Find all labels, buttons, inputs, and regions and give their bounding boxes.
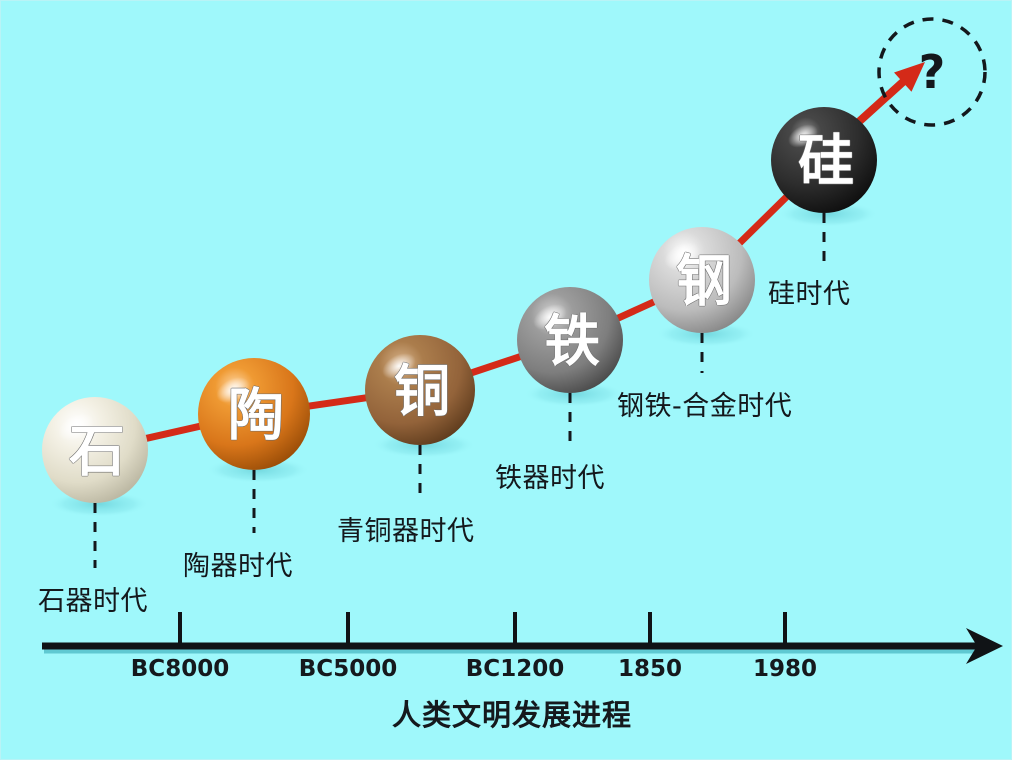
tick-label-1850: 1850: [618, 656, 682, 682]
question-mark-icon: ?: [919, 45, 946, 99]
tick-label-bc1200: BC1200: [466, 656, 564, 682]
text-label-layer: 石器时代 陶器时代 青铜器时代 铁器时代 钢铁-合金时代 硅时代 ? BC800…: [0, 0, 1012, 760]
tick-label-1980: 1980: [753, 656, 817, 682]
era-label-bronze-age: 青铜器时代: [337, 518, 475, 545]
era-label-iron-age: 铁器时代: [495, 465, 605, 492]
era-label-steel-alloy-age: 钢铁-合金时代: [617, 393, 792, 420]
era-label-silicon-age: 硅时代: [768, 281, 851, 308]
tick-label-bc5000: BC5000: [299, 656, 397, 682]
tick-label-bc8000: BC8000: [131, 656, 229, 682]
era-label-pottery-age: 陶器时代: [183, 553, 293, 580]
axis-caption: 人类文明发展进程: [392, 692, 632, 734]
diagram-canvas: 石 陶 铜 铁 钢 硅: [0, 0, 1012, 760]
era-label-stone-age: 石器时代: [38, 588, 148, 615]
